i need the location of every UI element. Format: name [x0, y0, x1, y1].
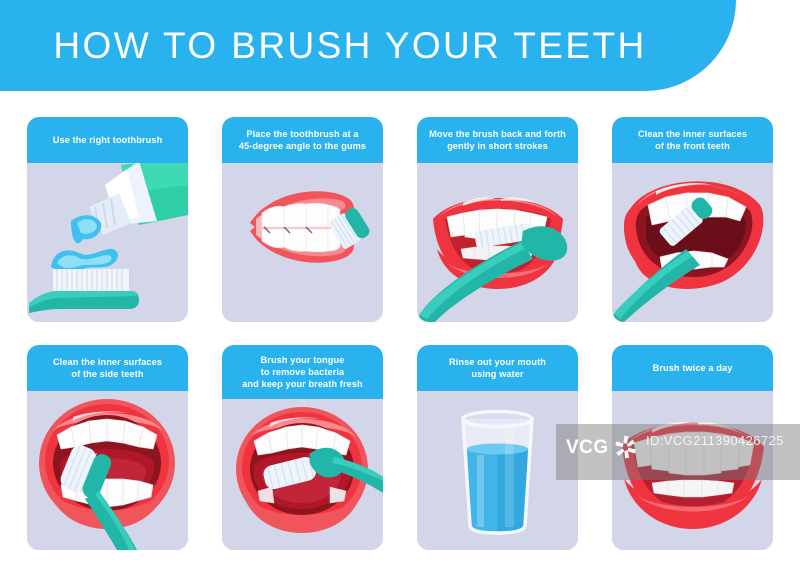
header-banner: HOW TO BRUSH YOUR TEETH	[0, 0, 736, 91]
step-card-3-body	[417, 163, 578, 322]
step-card-3[interactable]: Move the brush back and forth gently in …	[417, 117, 578, 322]
step-card-1-title: Use the right toothbrush	[53, 134, 163, 146]
step-card-7-header: Rinse out your mouth using water	[417, 345, 578, 391]
step-card-1-body	[27, 163, 188, 322]
step-card-4-body	[612, 163, 773, 322]
step-card-6[interactable]: Brush your tongue to remove bacteria and…	[222, 345, 383, 550]
step-card-7-title: Rinse out your mouth using water	[449, 356, 546, 380]
step-card-5-title: Clean the inner surfaces of the side tee…	[53, 356, 162, 380]
step-card-8-body	[612, 391, 773, 550]
open-mouth-inner-side-brush-illustration	[27, 391, 188, 550]
open-mouth-tongue-brush-illustration	[222, 399, 383, 550]
open-mouth-inner-front-brush-illustration	[612, 163, 773, 322]
step-card-5-header: Clean the inner surfaces of the side tee…	[27, 345, 188, 391]
step-card-7[interactable]: Rinse out your mouth using water	[417, 345, 578, 550]
step-card-3-title: Move the brush back and forth gently in …	[429, 128, 566, 152]
step-card-4-header: Clean the inner surfaces of the front te…	[612, 117, 773, 163]
healthy-smile-illustration	[612, 391, 773, 550]
step-card-3-header: Move the brush back and forth gently in …	[417, 117, 578, 163]
step-card-8[interactable]: Brush twice a day	[612, 345, 773, 550]
glass-of-water-illustration	[417, 391, 578, 550]
toothpaste-tube-on-brush-illustration	[27, 163, 188, 322]
page-title: HOW TO BRUSH YOUR TEETH	[0, 25, 700, 67]
step-card-5[interactable]: Clean the inner surfaces of the side tee…	[27, 345, 188, 550]
step-card-2[interactable]: Place the toothbrush at a 45-degree angl…	[222, 117, 383, 322]
steps-grid: Use the right toothbrush	[27, 117, 775, 557]
step-card-6-header: Brush your tongue to remove bacteria and…	[222, 345, 383, 399]
step-card-6-body	[222, 399, 383, 550]
step-card-1-header: Use the right toothbrush	[27, 117, 188, 163]
closed-teeth-side-angle-brush-illustration	[222, 163, 383, 322]
step-card-1[interactable]: Use the right toothbrush	[27, 117, 188, 322]
step-card-2-header: Place the toothbrush at a 45-degree angl…	[222, 117, 383, 163]
step-card-4[interactable]: Clean the inner surfaces of the front te…	[612, 117, 773, 322]
step-card-4-title: Clean the inner surfaces of the front te…	[638, 128, 747, 152]
step-card-2-title: Place the toothbrush at a 45-degree angl…	[239, 128, 366, 152]
step-card-7-body	[417, 391, 578, 550]
step-card-8-header: Brush twice a day	[612, 345, 773, 391]
step-card-8-title: Brush twice a day	[653, 362, 733, 374]
step-card-5-body	[27, 391, 188, 550]
step-card-2-body	[222, 163, 383, 322]
step-card-6-title: Brush your tongue to remove bacteria and…	[242, 354, 363, 390]
infographic-root: HOW TO BRUSH YOUR TEETH Use the right to…	[0, 0, 800, 585]
smile-front-brushing-illustration	[417, 163, 578, 322]
